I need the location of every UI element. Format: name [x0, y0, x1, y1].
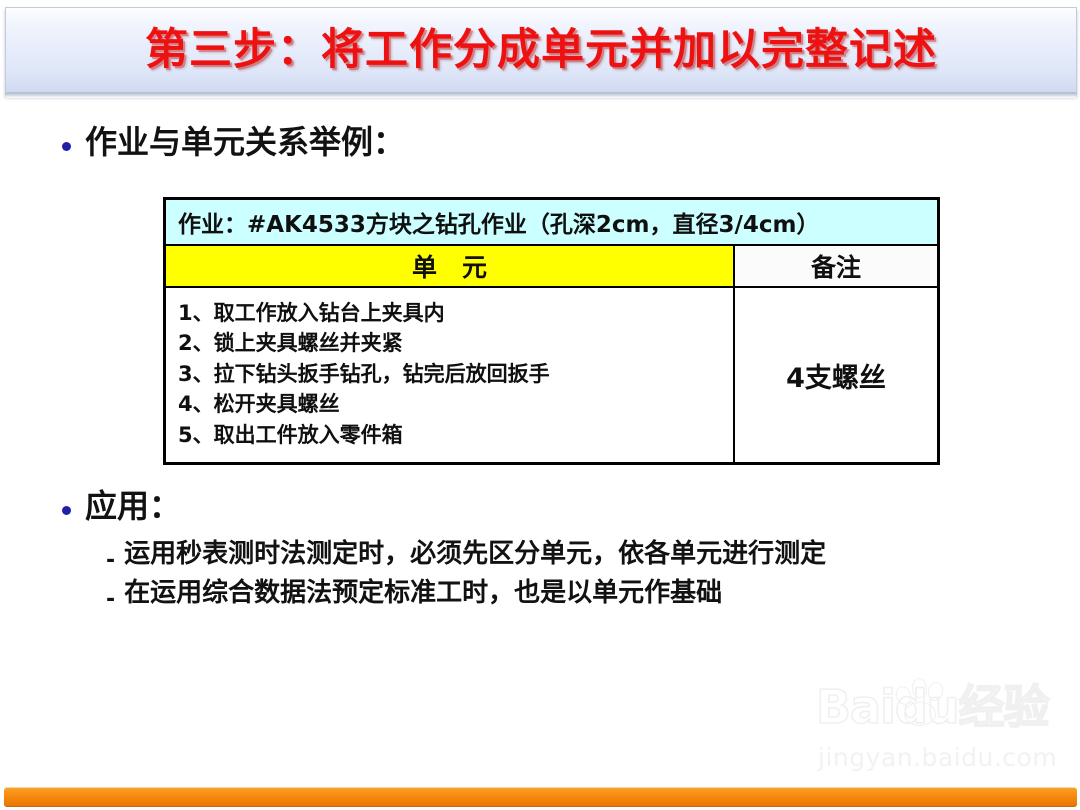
bullet-apply-heading: 应用： — [62, 488, 181, 525]
column-header-remark: 备注 — [734, 245, 939, 287]
list-item: 1、取工作放入钻台上夹具内 — [178, 298, 733, 328]
table-row-header: 单 元 备注 — [165, 245, 939, 287]
table-row-caption: 作业：#AK4533方块之钻孔作业（孔深2cm，直径3/4cm） — [165, 199, 939, 246]
list-item: 5、取出工件放入零件箱 — [178, 420, 733, 450]
list-item: 2、锁上夹具螺丝并夹紧 — [178, 328, 733, 358]
bullet-dot-icon — [62, 142, 71, 151]
baidu-jingyan-watermark: Baidu经验 jingyan.baidu.com — [816, 680, 1068, 772]
bullet-dot-icon — [62, 506, 71, 515]
bullet-example-heading: 作业与单元关系举例： — [62, 124, 405, 161]
paw-print-icon — [890, 676, 950, 730]
list-item: 4、松开夹具螺丝 — [178, 389, 733, 419]
apply-item-text: 运用秒表测时法测定时，必须先区分单元，依各单元进行测定 — [124, 538, 826, 572]
slide-title-banner: 第三步：将工作分成单元并加以完整记述 — [5, 7, 1077, 95]
table-row-body: 1、取工作放入钻台上夹具内 2、锁上夹具螺丝并夹紧 3、拉下钻头扳手钻孔，钻完后… — [165, 287, 939, 464]
apply-item-text: 在运用综合数据法预定标准工时，也是以单元作基础 — [124, 577, 722, 611]
column-header-unit: 单 元 — [165, 245, 735, 287]
job-caption-cell: 作业：#AK4533方块之钻孔作业（孔深2cm，直径3/4cm） — [165, 199, 939, 246]
dash-marker-icon: - — [106, 589, 115, 611]
watermark-url-text: jingyan.baidu.com — [818, 745, 1057, 770]
list-item: - 运用秒表测时法测定时，必须先区分单元，依各单元进行测定 — [106, 538, 826, 572]
apply-sub-list: - 运用秒表测时法测定时，必须先区分单元，依各单元进行测定 - 在运用综合数据法… — [106, 538, 826, 616]
list-item: 3、拉下钻头扳手钻孔，钻完后放回扳手 — [178, 359, 733, 389]
bullet-example-label: 作业与单元关系举例： — [85, 124, 405, 161]
remark-value-cell: 4支螺丝 — [734, 287, 939, 464]
bottom-accent-bar — [4, 787, 1077, 807]
job-unit-table: 作业：#AK4533方块之钻孔作业（孔深2cm，直径3/4cm） 单 元 备注 … — [163, 197, 940, 465]
watermark-brand-text: Baidu经验 — [816, 684, 1049, 730]
dash-marker-icon: - — [106, 550, 115, 572]
page-title: 第三步：将工作分成单元并加以完整记述 — [145, 29, 937, 72]
bullet-apply-label: 应用： — [85, 488, 181, 525]
list-item: - 在运用综合数据法预定标准工时，也是以单元作基础 — [106, 577, 826, 611]
unit-steps-cell: 1、取工作放入钻台上夹具内 2、锁上夹具螺丝并夹紧 3、拉下钻头扳手钻孔，钻完后… — [165, 287, 735, 464]
